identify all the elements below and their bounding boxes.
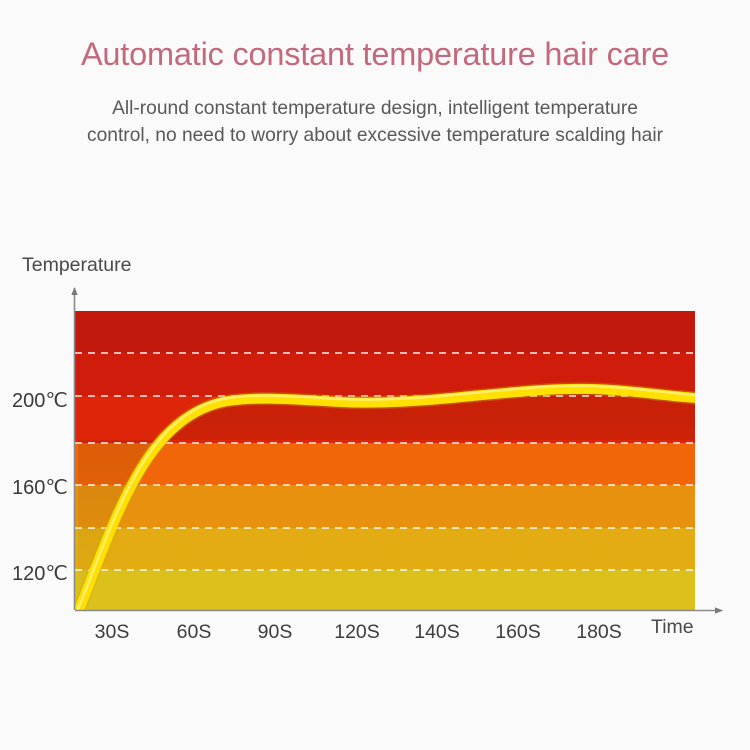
page-title: Automatic constant temperature hair care bbox=[0, 37, 750, 73]
x-tick-label: 140S bbox=[414, 621, 460, 643]
gradient-bands bbox=[75, 311, 695, 610]
header-block: Automatic constant temperature hair care… bbox=[0, 0, 750, 150]
x-tick-label: 160S bbox=[495, 621, 541, 643]
subtitle-line-1: All-round constant temperature design, i… bbox=[0, 95, 750, 123]
x-axis-label: Time bbox=[651, 616, 694, 638]
y-tick-label: 120℃ bbox=[12, 563, 68, 585]
x-tick-labels: 30S 60S 90S 120S 140S 160S 180S bbox=[95, 621, 622, 643]
y-tick-label: 160℃ bbox=[12, 477, 68, 499]
x-tick-label: 90S bbox=[258, 621, 293, 643]
chart-canvas: Temperature 200℃ 160℃ 120℃ 30S 60S 90S 1… bbox=[0, 240, 750, 660]
x-tick-label: 180S bbox=[576, 621, 622, 643]
x-tick-label: 60S bbox=[177, 621, 212, 643]
y-tick-label: 200℃ bbox=[12, 390, 68, 412]
y-axis-label: Temperature bbox=[22, 254, 131, 276]
subtitle-line-2: control, no need to worry about excessiv… bbox=[0, 122, 750, 150]
y-tick-labels: 200℃ 160℃ 120℃ bbox=[12, 390, 68, 585]
subtitle-block: All-round constant temperature design, i… bbox=[0, 95, 750, 151]
x-tick-label: 120S bbox=[334, 621, 380, 643]
temperature-chart: Temperature 200℃ 160℃ 120℃ 30S 60S 90S 1… bbox=[0, 240, 750, 660]
x-tick-label: 30S bbox=[95, 621, 130, 643]
